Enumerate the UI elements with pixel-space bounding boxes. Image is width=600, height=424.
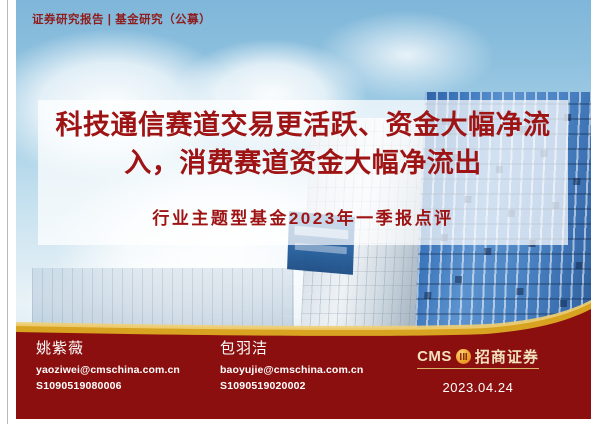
author-name: 姚紫薇 <box>36 340 180 359</box>
brand-chinese-name: 招商证券 <box>475 346 539 367</box>
author-block-1: 姚紫薇 yaoziwei@cmschina.com.cn S1090519080… <box>36 340 180 394</box>
publish-date: 2023.04.24 <box>393 380 563 395</box>
author-email[interactable]: yaoziwei@cmschina.com.cn <box>36 363 180 378</box>
footer-content: 姚紫薇 yaoziwei@cmschina.com.cn S1090519080… <box>16 330 591 419</box>
left-margin <box>0 0 16 424</box>
title-panel: 科技通信赛道交易更活跃、资金大幅净流入，消费赛道资金大幅净流出 行业主题型基金2… <box>38 100 568 245</box>
author-license-code: S1090519080006 <box>36 378 180 394</box>
brand-latin-name: CMS <box>417 348 452 365</box>
report-category-label: 证券研究报告 | 基金研究（公募） <box>32 11 211 27</box>
cms-emblem-icon <box>456 349 471 364</box>
report-header-strip: 证券研究报告 | 基金研究（公募） <box>16 0 591 44</box>
left-rule <box>7 0 8 424</box>
page-title: 科技通信赛道交易更活跃、资金大幅净流入，消费赛道资金大幅净流出 <box>38 106 568 183</box>
bottom-margin <box>0 419 600 424</box>
author-name: 包羽洁 <box>220 340 363 359</box>
report-cover-page: 证券研究报告 | 基金研究（公募） 科技通信赛道交易更活跃、资金大幅净流入，消费… <box>0 0 600 424</box>
author-block-2: 包羽洁 baoyujie@cmschina.com.cn S1090519020… <box>220 340 363 394</box>
right-margin <box>591 0 600 424</box>
author-email[interactable]: baoyujie@cmschina.com.cn <box>220 363 363 378</box>
cms-logo: CMS 招商证券 <box>417 346 539 369</box>
author-license-code: S1090519020002 <box>220 378 363 394</box>
brand-block: CMS 招商证券 2023.04.24 <box>393 346 563 395</box>
page-subtitle: 行业主题型基金2023年一季报点评 <box>38 204 568 229</box>
